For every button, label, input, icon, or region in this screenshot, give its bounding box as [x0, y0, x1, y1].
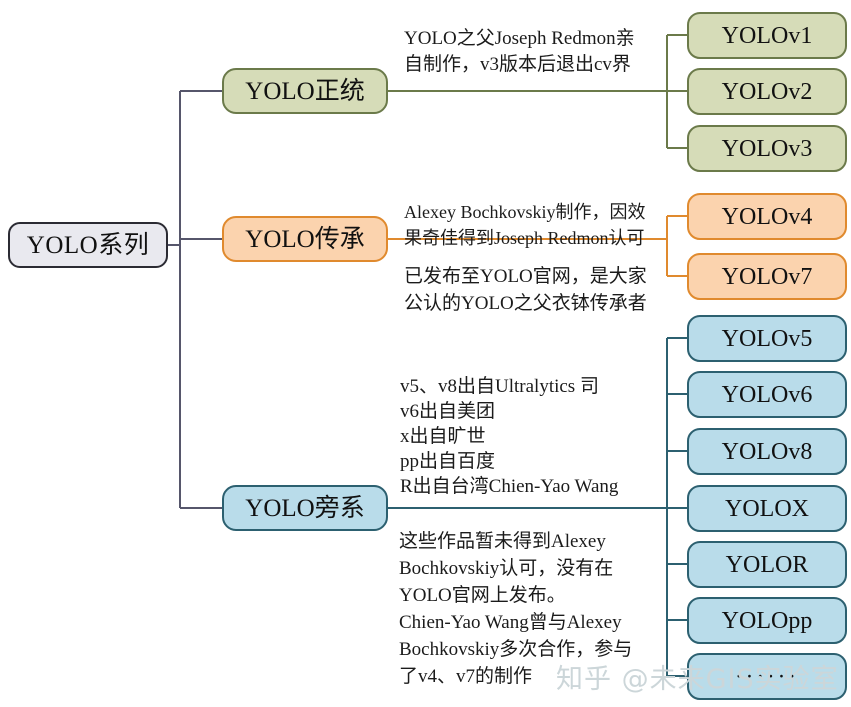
note-line: v6出自美团 [400, 399, 618, 424]
branch-node-yolo-orthodox[interactable]: YOLO正统 [222, 68, 388, 114]
watermark: 知乎 @未来GIS实验室 [556, 657, 839, 696]
note-line: 这些作品暂未得到Alexey [399, 528, 632, 555]
branch-node-label: YOLO旁系 [245, 496, 364, 521]
note-line: Bochkovskiy认可，没有在 [399, 555, 632, 582]
root-node[interactable]: YOLO系列 [8, 222, 168, 268]
note-yolo-collateral-1: v5、v8出自Ultralytics 司 v6出自美团 x出自旷世 pp出自百度… [400, 374, 618, 499]
note-line: x出自旷世 [400, 424, 618, 449]
leaf-node-label: YOLOpp [722, 609, 813, 633]
leaf-node-yolov7[interactable]: YOLOv7 [687, 253, 847, 300]
branch-node-label: YOLO正统 [245, 79, 364, 104]
note-yolo-orthodox: YOLO之父Joseph Redmon亲 自制作，v3版本后退出cv界 [404, 26, 635, 78]
mindmap-canvas: YOLO系列 YOLO正统 YOLO传承 YOLO旁系 YOLOv1 YOLOv… [0, 0, 851, 707]
branch-node-label: YOLO传承 [245, 227, 364, 252]
leaf-node-label: YOLOv5 [722, 327, 813, 351]
note-line: R出自台湾Chien-Yao Wang [400, 474, 618, 499]
leaf-node-label: YOLOX [725, 497, 809, 521]
leaf-node-label: YOLOv7 [722, 265, 813, 289]
leaf-node-label: YOLOv8 [722, 440, 813, 464]
leaf-node-yolov3[interactable]: YOLOv3 [687, 125, 847, 172]
note-line: Chien-Yao Wang曾与Alexey [399, 609, 632, 636]
leaf-node-label: YOLOv3 [722, 137, 813, 161]
leaf-node-yolov8[interactable]: YOLOv8 [687, 428, 847, 475]
leaf-node-label: YOLOR [726, 553, 809, 577]
leaf-node-yolox[interactable]: YOLOX [687, 485, 847, 532]
note-line: YOLO之父Joseph Redmon亲 [404, 26, 635, 52]
leaf-node-label: YOLOv1 [722, 24, 813, 48]
note-line: YOLO官网上发布。 [399, 582, 632, 609]
leaf-node-yolov6[interactable]: YOLOv6 [687, 371, 847, 418]
leaf-node-yolov1[interactable]: YOLOv1 [687, 12, 847, 59]
note-yolo-inheritance-2: 已发布至YOLO官网，是大家 公认的YOLO之父衣钵传承者 [404, 263, 647, 317]
leaf-node-yolor[interactable]: YOLOR [687, 541, 847, 588]
note-line: pp出自百度 [400, 449, 618, 474]
leaf-node-yolov2[interactable]: YOLOv2 [687, 68, 847, 115]
leaf-node-label: YOLOv6 [722, 383, 813, 407]
note-line: 果奇佳得到Joseph Redmon认可 [404, 225, 645, 251]
note-line: 已发布至YOLO官网，是大家 [404, 263, 647, 290]
note-line: Alexey Bochkovskiy制作，因效 [404, 199, 645, 225]
note-line: 公认的YOLO之父衣钵传承者 [404, 290, 647, 317]
note-line: v5、v8出自Ultralytics 司 [400, 374, 618, 399]
leaf-node-label: YOLOv4 [722, 205, 813, 229]
note-line: 自制作，v3版本后退出cv界 [404, 52, 635, 78]
root-node-label: YOLO系列 [27, 233, 149, 258]
note-yolo-inheritance-1: Alexey Bochkovskiy制作，因效 果奇佳得到Joseph Redm… [404, 199, 645, 251]
branch-node-yolo-collateral[interactable]: YOLO旁系 [222, 485, 388, 531]
leaf-node-yolov5[interactable]: YOLOv5 [687, 315, 847, 362]
leaf-node-yolopp[interactable]: YOLOpp [687, 597, 847, 644]
branch-node-yolo-inheritance[interactable]: YOLO传承 [222, 216, 388, 262]
leaf-node-label: YOLOv2 [722, 80, 813, 104]
leaf-node-yolov4[interactable]: YOLOv4 [687, 193, 847, 240]
